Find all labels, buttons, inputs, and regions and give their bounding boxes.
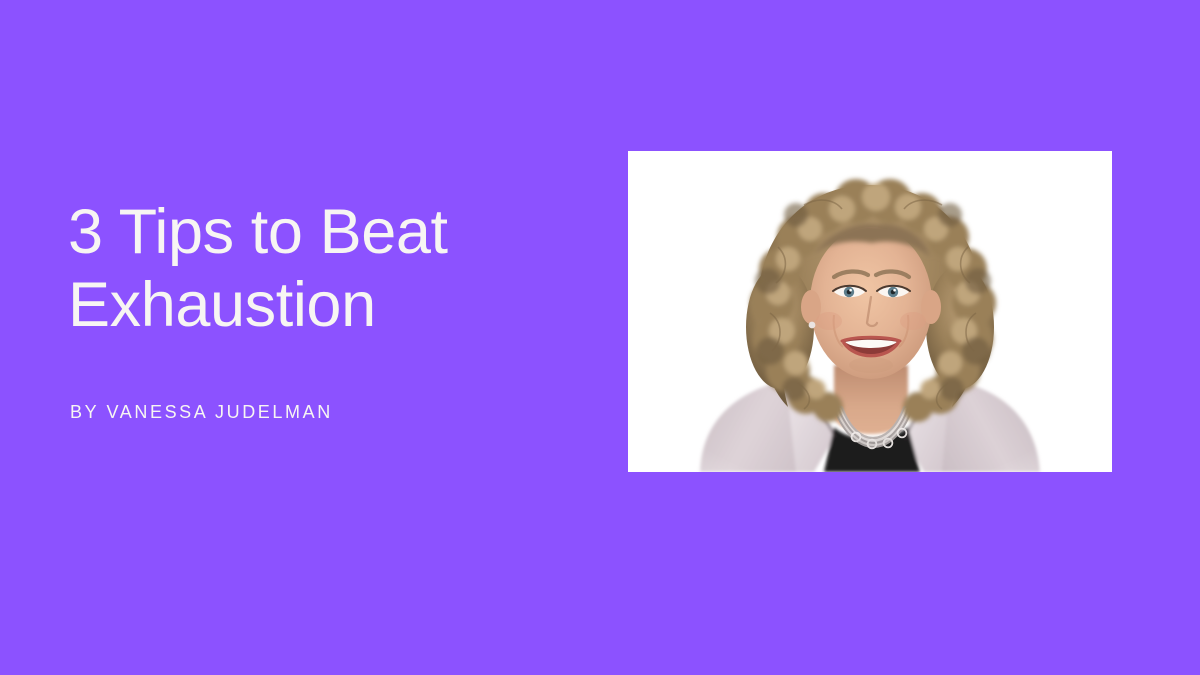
portrait-photo [628,151,1112,472]
byline-author: BY VANESSA JUDELMAN [70,402,333,423]
photo-vignette [628,151,1112,472]
page-title: 3 Tips to Beat Exhaustion [68,196,568,342]
slide-canvas: 3 Tips to Beat Exhaustion BY VANESSA JUD… [0,0,1200,675]
text-block: 3 Tips to Beat Exhaustion BY VANESSA JUD… [68,196,568,342]
portrait-photo-card [628,151,1112,472]
